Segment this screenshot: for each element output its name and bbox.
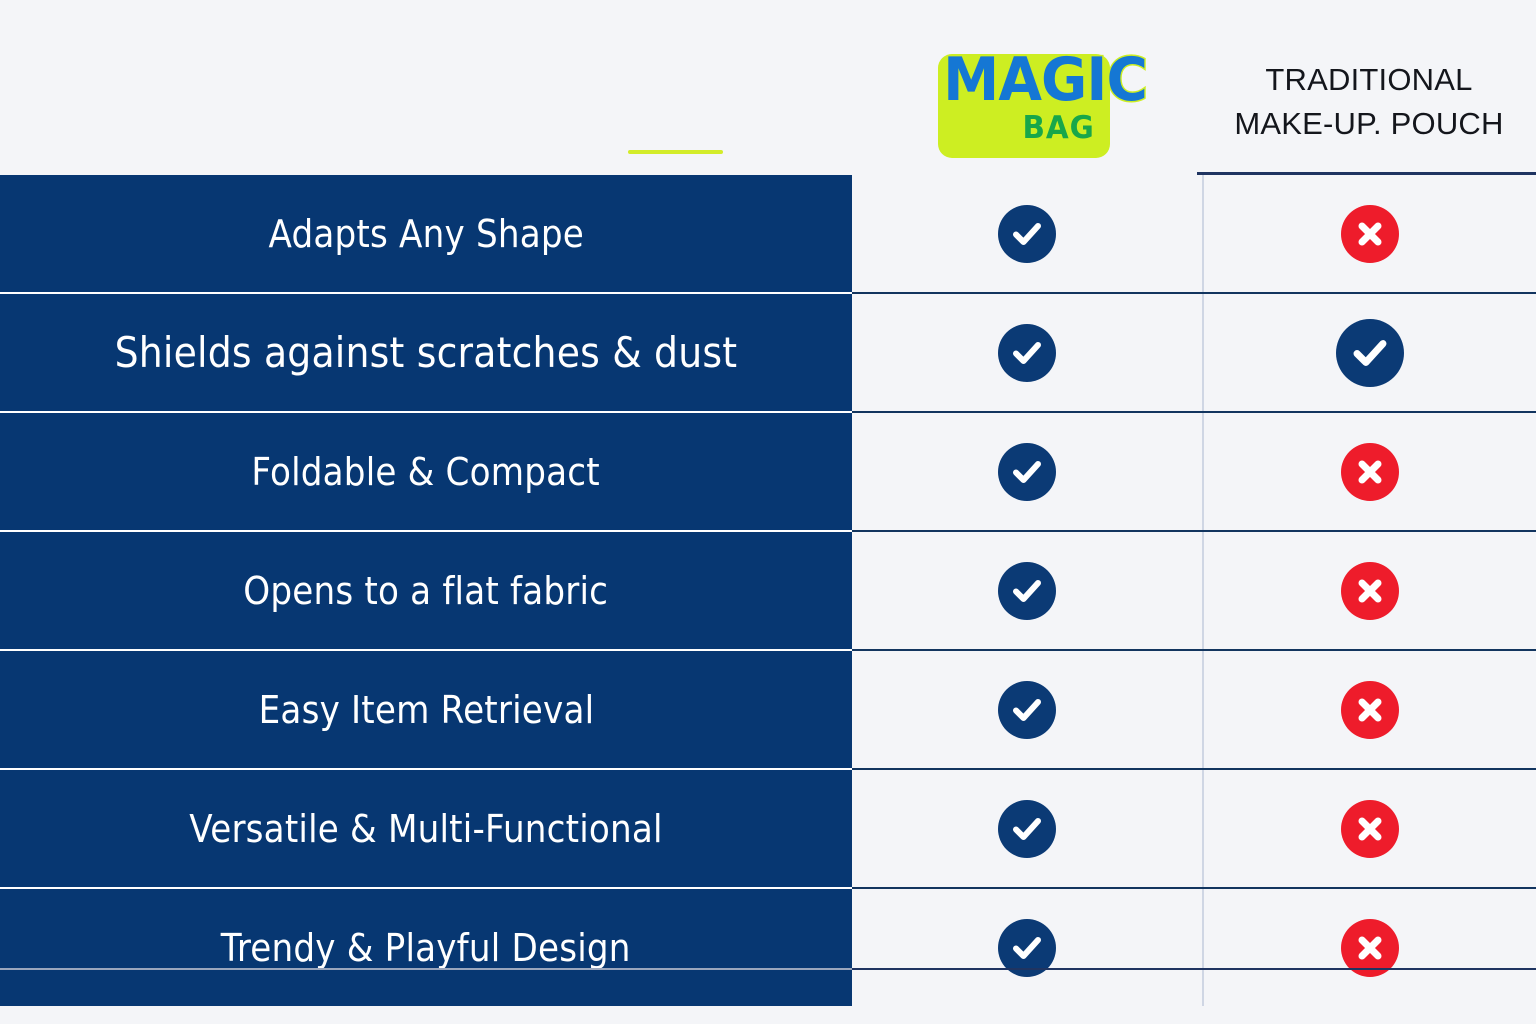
feature-label: Foldable & Compact [252, 450, 600, 494]
comparison-table-header: MAGIC BAG TRADITIONAL MAKE-UP. POUCH [0, 0, 1536, 175]
feature-label-cell: Foldable & Compact [0, 413, 852, 530]
traditional-column-title-line1: TRADITIONAL [1202, 58, 1536, 102]
traditional-cell [1202, 889, 1536, 1006]
check-icon [1336, 319, 1404, 387]
cross-icon [1341, 681, 1399, 739]
magic-bag-cell [852, 770, 1202, 887]
traditional-cell [1202, 413, 1536, 530]
table-row: Adapts Any Shape [0, 175, 1536, 292]
magic-bag-cell [852, 413, 1202, 530]
feature-label-cell: Opens to a flat fabric [0, 532, 852, 649]
feature-label: Trendy & Playful Design [221, 926, 631, 970]
check-icon [998, 562, 1056, 620]
cross-icon [1341, 562, 1399, 620]
comparison-table-page: MAGIC BAG TRADITIONAL MAKE-UP. POUCH Ada… [0, 0, 1536, 1024]
magic-bag-logo: MAGIC BAG [938, 48, 1110, 160]
traditional-column-title-line2: MAKE-UP. POUCH [1202, 102, 1536, 146]
magic-bag-cell [852, 532, 1202, 649]
table-row: Opens to a flat fabric [0, 530, 1536, 649]
magic-bag-cell [852, 294, 1202, 411]
table-row: Trendy & Playful Design [0, 887, 1536, 1006]
feature-label-cell: Versatile & Multi-Functional [0, 770, 852, 887]
feature-label: Opens to a flat fabric [244, 569, 609, 613]
traditional-cell [1202, 770, 1536, 887]
logo-word-magic: MAGIC [943, 48, 1105, 112]
check-icon [998, 443, 1056, 501]
traditional-cell [1202, 532, 1536, 649]
traditional-cell [1202, 294, 1536, 411]
check-icon [998, 681, 1056, 739]
cross-icon [1341, 443, 1399, 501]
cross-icon [1341, 205, 1399, 263]
table-bottom-rule-left-segment [0, 968, 852, 970]
table-bottom-rule [0, 968, 1536, 970]
table-row: Foldable & Compact [0, 411, 1536, 530]
table-row: Shields against scratches & dust [0, 292, 1536, 411]
cross-icon [1341, 800, 1399, 858]
magic-bag-cell [852, 651, 1202, 768]
feature-label-cell: Trendy & Playful Design [0, 889, 852, 1006]
feature-column-accent-rule [628, 150, 723, 154]
logo-word-bag: BAG [947, 110, 1110, 146]
feature-label-cell: Adapts Any Shape [0, 175, 852, 292]
check-icon [998, 205, 1056, 263]
feature-label: Versatile & Multi-Functional [189, 807, 662, 851]
check-icon [998, 800, 1056, 858]
feature-label: Shields against scratches & dust [115, 331, 738, 375]
traditional-cell [1202, 651, 1536, 768]
magic-bag-cell [852, 889, 1202, 1006]
traditional-column-title: TRADITIONAL MAKE-UP. POUCH [1202, 58, 1536, 146]
check-icon [998, 324, 1056, 382]
feature-label: Adapts Any Shape [268, 212, 583, 256]
feature-label: Easy Item Retrieval [258, 688, 594, 732]
table-row: Versatile & Multi-Functional [0, 768, 1536, 887]
comparison-table-body: Adapts Any Shape Shie [0, 175, 1536, 1006]
table-row: Easy Item Retrieval [0, 649, 1536, 768]
traditional-cell [1202, 175, 1536, 292]
feature-label-cell: Easy Item Retrieval [0, 651, 852, 768]
magic-bag-cell [852, 175, 1202, 292]
feature-label-cell: Shields against scratches & dust [0, 294, 852, 411]
